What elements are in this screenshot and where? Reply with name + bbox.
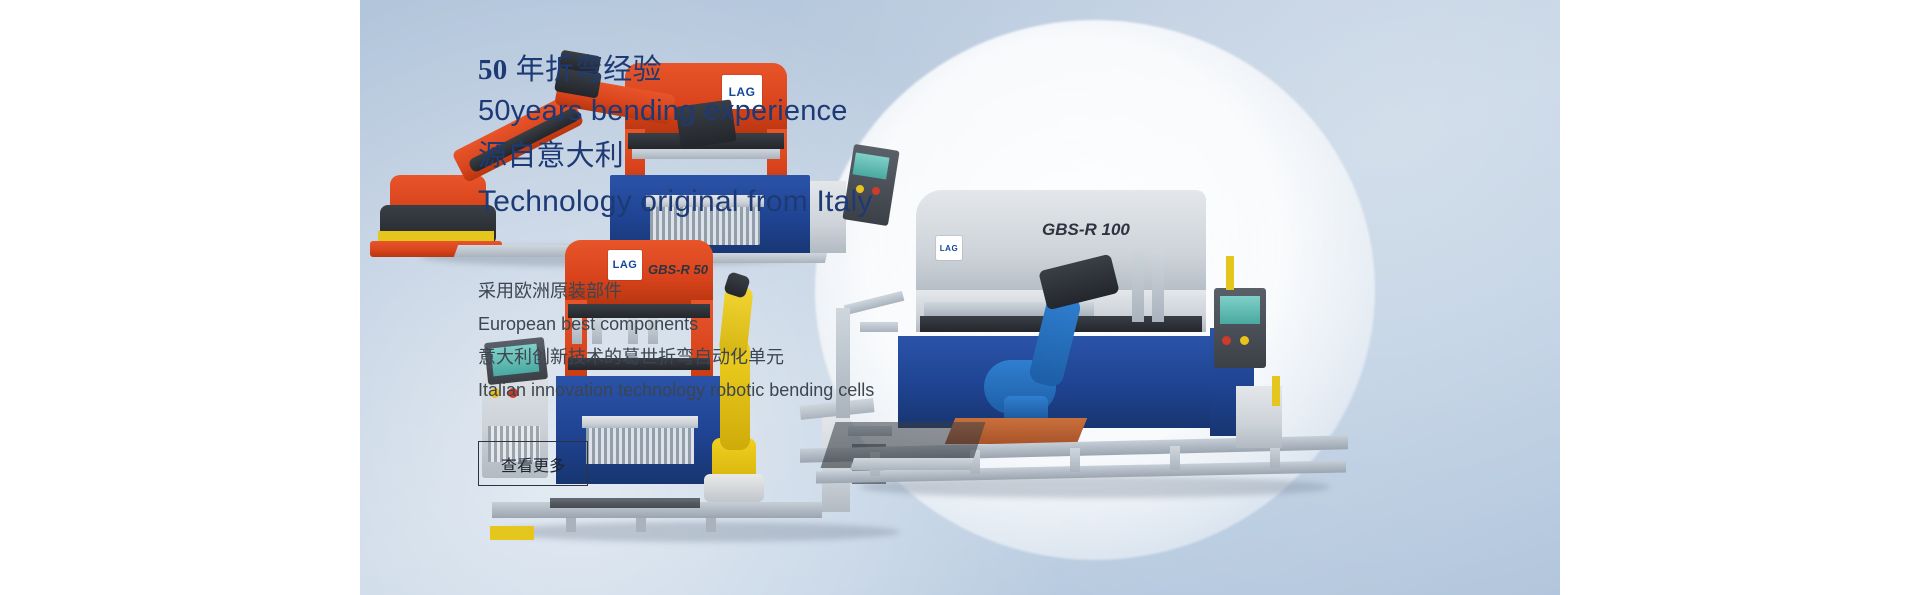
subtext-line-1: 采用欧洲原装部件 — [478, 275, 1038, 308]
headline-line-1-text: 年折弯经验 — [507, 54, 661, 86]
subtext-line-3: 意大利创新技术的葛世折弯自动化单元 — [478, 341, 1038, 374]
hero-banner-screenshot: LAG — [0, 0, 1920, 595]
headline-line-1: 50 年折弯经验 — [478, 52, 998, 89]
hero-banner: LAG — [360, 0, 1560, 595]
headline-line-4: Technology original from Italy — [478, 179, 998, 225]
subtext-line-4: Italian innovation technology robotic be… — [478, 374, 1038, 407]
headline-line-2: 50years bending experience — [478, 89, 998, 134]
subtext-line-2: European best components — [478, 308, 1038, 341]
headline-years-number: 50 — [478, 54, 507, 86]
view-more-button[interactable]: 查看更多 — [478, 441, 588, 486]
headline-line-3: 源自意大利 — [478, 134, 998, 179]
headline-block: 50 年折弯经验 50years bending experience 源自意大… — [478, 52, 998, 225]
subtext-block: 采用欧洲原装部件 European best components 意大利创新技… — [478, 275, 1038, 407]
